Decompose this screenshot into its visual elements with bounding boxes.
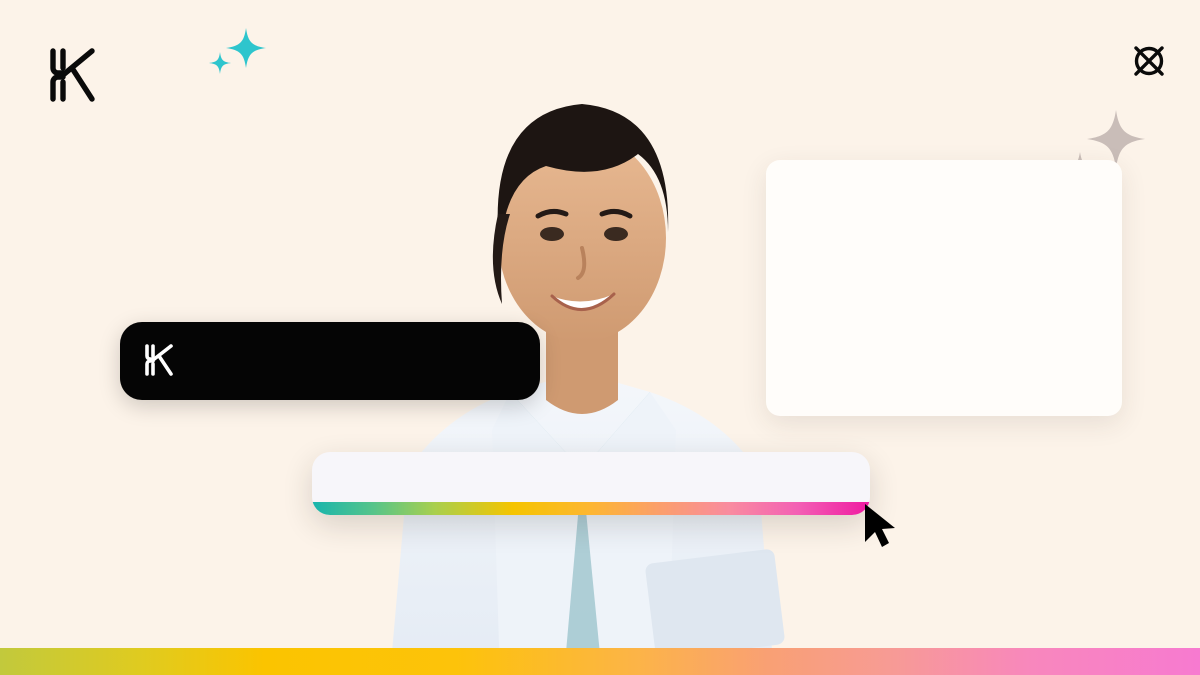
suggested-prompt-pill[interactable]	[120, 322, 540, 400]
question-text	[312, 452, 870, 502]
owkin-k-logo-icon	[42, 42, 108, 108]
card-accent-bar	[312, 502, 870, 515]
owkin-circle-x-icon	[1128, 40, 1170, 82]
promo-banner	[0, 0, 1200, 675]
question-card[interactable]	[312, 452, 870, 515]
sparkles-icon	[202, 24, 272, 86]
bottom-accent-bar	[0, 648, 1200, 675]
background-wash	[0, 375, 1200, 675]
histology-background	[0, 375, 1200, 675]
mouse-pointer-icon	[862, 502, 900, 550]
chart-card[interactable]	[766, 160, 1122, 416]
brand-logo	[42, 42, 122, 108]
chart-plot-area	[778, 176, 1110, 390]
k-mark-icon	[140, 340, 180, 380]
survival-curve-svg	[778, 176, 1110, 390]
